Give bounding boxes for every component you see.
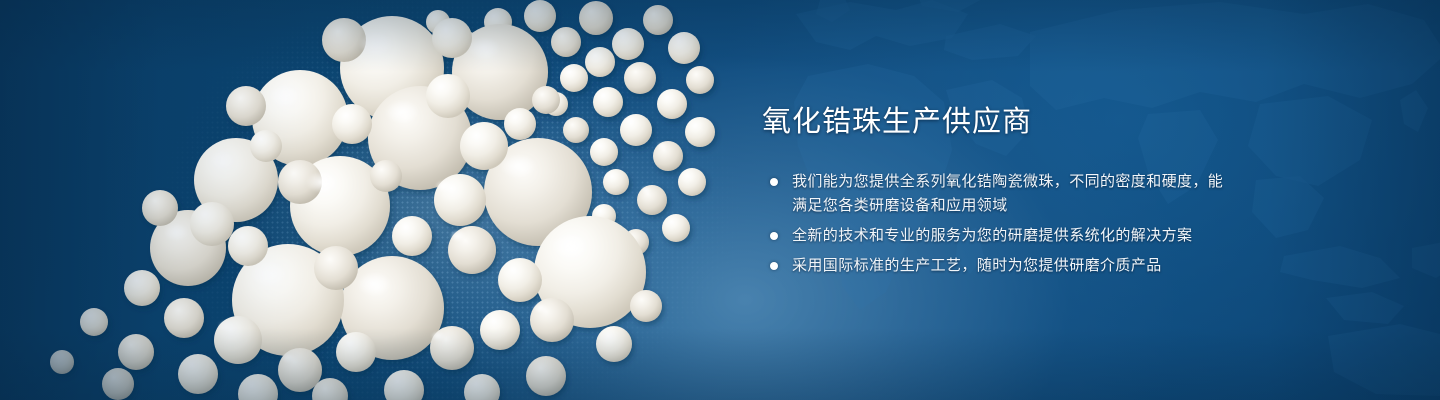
feature-list: 我们能为您提供全系列氧化锆陶瓷微珠，不同的密度和硬度，能满足您各类研磨设备和应用… <box>762 170 1232 278</box>
page-title: 氧化锆珠生产供应商 <box>762 104 1232 140</box>
list-item: 我们能为您提供全系列氧化锆陶瓷微珠，不同的密度和硬度，能满足您各类研磨设备和应用… <box>762 170 1232 218</box>
list-item: 全新的技术和专业的服务为您的研磨提供系统化的解决方案 <box>762 224 1232 248</box>
list-item-label: 采用国际标准的生产工艺，随时为您提供研磨介质产品 <box>792 254 1232 278</box>
banner-copy: 氧化锆珠生产供应商 我们能为您提供全系列氧化锆陶瓷微珠，不同的密度和硬度，能满足… <box>762 104 1232 278</box>
list-item-label: 全新的技术和专业的服务为您的研磨提供系统化的解决方案 <box>792 224 1232 248</box>
list-item-label: 我们能为您提供全系列氧化锆陶瓷微珠，不同的密度和硬度，能满足您各类研磨设备和应用… <box>792 170 1232 218</box>
hero-banner: 氧化锆珠生产供应商 我们能为您提供全系列氧化锆陶瓷微珠，不同的密度和硬度，能满足… <box>0 0 1440 400</box>
bullet-dot-icon <box>770 262 778 270</box>
bullet-dot-icon <box>770 232 778 240</box>
bullet-dot-icon <box>770 178 778 186</box>
list-item: 采用国际标准的生产工艺，随时为您提供研磨介质产品 <box>762 254 1232 278</box>
